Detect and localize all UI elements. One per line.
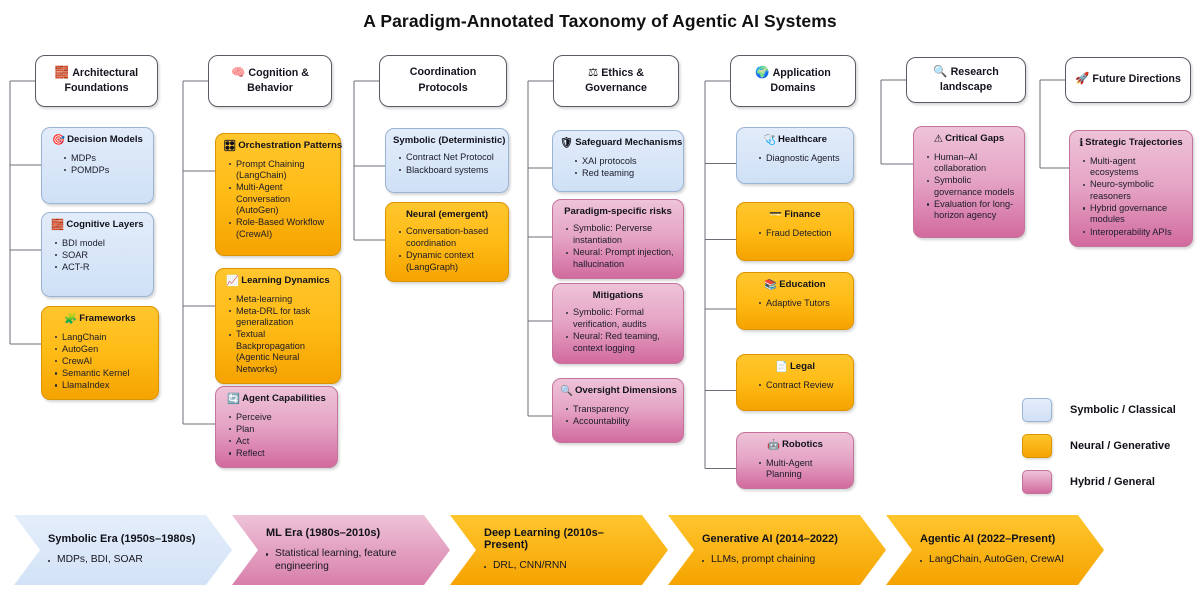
list-item: Fraud Detection [766, 228, 846, 240]
timeline-generative-ai[interactable]: Generative AI (2014–2022)LLMs, prompt ch… [668, 515, 886, 585]
node-item-list: PerceivePlanActReflect [223, 412, 330, 460]
node-title-text: Neural (emergent) [406, 209, 488, 220]
list-item: Neural: Prompt injection, hallucination [573, 247, 676, 270]
list-item: Symbolic governance models [934, 175, 1017, 198]
node-title-text: Mitigations [593, 290, 644, 301]
node-item-list: Contract Review [744, 380, 846, 392]
node-title-text: Learning Dynamics [241, 275, 330, 286]
node-mitigations[interactable]: MitigationsSymbolic: Formal verification… [552, 283, 684, 364]
card-icon: 💳 [769, 210, 782, 221]
node-title-text: Strategic Trajectories [1085, 137, 1183, 148]
legend-row-neural: Neural / Generative [1022, 428, 1176, 464]
node-title-text: Legal [790, 361, 815, 372]
node-title: 📄Legal [744, 361, 846, 375]
document-icon: 📄 [775, 362, 788, 373]
node-title: 🩺Healthcare [744, 134, 846, 148]
info-icon: ℹ [1079, 138, 1083, 149]
list-item: Neural: Red teaming, context logging [573, 331, 676, 354]
header-text: Research landscape [940, 66, 999, 93]
list-item: POMDPs [71, 165, 146, 177]
node-education[interactable]: 📚EducationAdaptive Tutors [736, 272, 854, 330]
node-title-text: Decision Models [67, 134, 143, 145]
node-title: Neural (emergent) [393, 209, 501, 221]
header-ethics-governance[interactable]: ⚖Ethics & Governance [553, 55, 679, 107]
timeline-subtitle: DRL, CNN/RNN [484, 560, 642, 573]
node-title: 🔄Agent Capabilities [223, 393, 330, 407]
node-symbolic-deterministic[interactable]: Symbolic (Deterministic)Contract Net Pro… [385, 128, 509, 193]
node-title-text: Oversight Dimensions [575, 385, 677, 396]
node-item-list: Meta-learningMeta-DRL for task generaliz… [223, 294, 333, 376]
list-item: Meta-DRL for task generalization [236, 306, 333, 329]
taxonomy-diagram: A Paradigm-Annotated Taxonomy of Agentic… [0, 0, 1200, 596]
node-title: ℹStrategic Trajectories [1077, 137, 1185, 151]
node-title: ⚠Critical Gaps [921, 133, 1017, 147]
node-robotics[interactable]: 🤖RoboticsMulti-Agent Planning [736, 432, 854, 489]
node-title: 🤖Robotics [744, 439, 846, 453]
list-item: Multi-Agent Planning [766, 458, 846, 481]
chart-increasing-icon: 📈 [226, 276, 239, 287]
node-decision-models[interactable]: 🎯Decision ModelsMDPsPOMDPs [41, 127, 154, 204]
magnifier-icon: 🔍 [560, 386, 573, 397]
list-item: SOAR [62, 250, 146, 262]
legend-label: Symbolic / Classical [1070, 404, 1176, 416]
list-item: Blackboard systems [406, 165, 501, 177]
list-item: Adaptive Tutors [766, 298, 846, 310]
list-item: Semantic Kernel [62, 368, 151, 380]
rocket-icon: 🚀 [1075, 73, 1089, 85]
header-cognition-behavior[interactable]: 🧠Cognition & Behavior [208, 55, 332, 107]
list-item: Contract Review [766, 380, 846, 392]
timeline-deep-learning[interactable]: Deep Learning (2010s–Present)DRL, CNN/RN… [450, 515, 668, 585]
list-item: Act [236, 436, 330, 448]
list-item: ACT-R [62, 262, 146, 274]
header-research-landscape[interactable]: 🔍Research landscape [906, 57, 1026, 103]
node-item-list: LangChainAutoGenCrewAISemantic KernelLla… [49, 332, 151, 392]
node-title: 🎯Decision Models [49, 134, 146, 148]
node-oversight-dimensions[interactable]: 🔍Oversight DimensionsTransparencyAccount… [552, 378, 684, 443]
header-architectural-foundations[interactable]: 🧱Architectural Foundations [35, 55, 158, 107]
list-item: Neuro-symbolic reasoners [1090, 179, 1185, 202]
header-label: ⚖Ethics & Governance [561, 65, 671, 97]
node-title: Symbolic (Deterministic) [393, 135, 501, 147]
globe-icon: 🌍 [755, 67, 769, 79]
header-label: 🚀Future Directions [1075, 71, 1181, 87]
header-text: Coordination Protocols [410, 66, 477, 93]
brick-icon: 🧱 [55, 67, 69, 79]
list-item: CrewAI [62, 356, 151, 368]
node-title-text: Safeguard Mechanisms [575, 137, 682, 148]
list-item: Evaluation for long-horizon agency [934, 199, 1017, 222]
era-timeline: Symbolic Era (1950s–1980s)MDPs, BDI, SOA… [0, 515, 1200, 585]
list-item: Multi-agent ecosystems [1090, 156, 1185, 179]
list-item: XAI protocols [582, 156, 676, 168]
warning-icon: ⚠ [934, 134, 943, 145]
legend-row-hybrid: Hybrid / General [1022, 464, 1176, 500]
node-title: Mitigations [560, 290, 676, 302]
node-finance[interactable]: 💳FinanceFraud Detection [736, 202, 854, 261]
list-item: Prompt Chaining (LangChain) [236, 159, 333, 182]
log-icon: 🧱 [51, 220, 64, 231]
list-item: Symbolic: Formal verification, audits [573, 307, 676, 330]
balance-scale-icon: ⚖ [588, 67, 598, 79]
node-item-list: Symbolic: Perverse instantiationNeural: … [560, 223, 676, 270]
node-strategic-trajectories[interactable]: ℹStrategic TrajectoriesMulti-agent ecosy… [1069, 130, 1193, 247]
list-item: MDPs [71, 153, 146, 165]
node-title-text: Healthcare [778, 134, 827, 145]
node-item-list: Contract Net ProtocolBlackboard systems [393, 152, 501, 176]
list-item: Perceive [236, 412, 330, 424]
node-item-list: Prompt Chaining (LangChain)Multi-Agent C… [223, 159, 333, 241]
node-title: 📚Education [744, 279, 846, 293]
list-item: AutoGen [62, 344, 151, 356]
node-item-list: Symbolic: Formal verification, auditsNeu… [560, 307, 676, 354]
list-item: Meta-learning [236, 294, 333, 306]
legend-swatch-hybrid [1022, 470, 1052, 494]
magnifier-icon: 🔍 [933, 66, 947, 78]
node-item-list: Conversation-based coordinationDynamic c… [393, 226, 501, 273]
legend-swatch-symbolic [1022, 398, 1052, 422]
list-item: Red teaming [582, 168, 676, 180]
node-title: 🔍Oversight Dimensions [560, 385, 676, 399]
timeline-title: Symbolic Era (1950s–1980s) [48, 533, 206, 545]
legend-swatch-neural [1022, 434, 1052, 458]
brain-icon: 🧠 [231, 67, 245, 79]
legend: Symbolic / ClassicalNeural / GenerativeH… [1022, 392, 1176, 500]
legend-row-symbolic: Symbolic / Classical [1022, 392, 1176, 428]
list-item: Interoperability APIs [1090, 227, 1185, 239]
header-label: Coordination Protocols [387, 65, 499, 95]
header-label: 🔍Research landscape [914, 64, 1018, 96]
puzzle-icon: 🧩 [64, 314, 77, 325]
list-item: Symbolic: Perverse instantiation [573, 223, 676, 246]
node-healthcare[interactable]: 🩺HealthcareDiagnostic Agents [736, 127, 854, 184]
legend-label: Neural / Generative [1070, 440, 1170, 452]
node-critical-gaps[interactable]: ⚠Critical GapsHuman–AI collaborationSymb… [913, 126, 1025, 238]
target-icon: 🎯 [52, 135, 65, 146]
header-label: 🌍Application Domains [738, 65, 848, 97]
node-orchestration-patterns[interactable]: 🎛Orchestration PatternsPrompt Chaining (… [215, 133, 341, 256]
node-item-list: BDI modelSOARACT-R [49, 238, 146, 274]
header-text: Cognition & Behavior [247, 67, 309, 94]
node-safeguard-mechanisms[interactable]: 🛡Safeguard MechanismsXAI protocolsRed te… [552, 130, 684, 192]
node-item-list: TransparencyAccountability [560, 404, 676, 428]
node-agent-capabilities[interactable]: 🔄Agent CapabilitiesPerceivePlanActReflec… [215, 386, 338, 468]
list-item: BDI model [62, 238, 146, 250]
list-item: Accountability [573, 416, 676, 428]
node-paradigm-specific-risks[interactable]: Paradigm-specific risksSymbolic: Pervers… [552, 199, 684, 279]
node-title: 🧱Cognitive Layers [49, 219, 146, 233]
list-item: LlamaIndex [62, 380, 151, 392]
node-title: 📈Learning Dynamics [223, 275, 333, 289]
node-title-text: Agent Capabilities [242, 393, 326, 404]
timeline-subtitle: LLMs, prompt chaining [702, 554, 860, 567]
stethoscope-icon: 🩺 [763, 135, 776, 146]
timeline-agentic-ai[interactable]: Agentic AI (2022–Present)LangChain, Auto… [886, 515, 1104, 585]
control-knobs-icon: 🎛 [223, 141, 236, 152]
node-title: 🎛Orchestration Patterns [223, 140, 333, 154]
node-item-list: Fraud Detection [744, 228, 846, 240]
list-item: Human–AI collaboration [934, 152, 1017, 175]
timeline-title: Agentic AI (2022–Present) [920, 533, 1078, 545]
node-title-text: Paradigm-specific risks [564, 206, 672, 217]
list-item: Dynamic context (LangGraph) [406, 250, 501, 273]
header-coordination-protocols[interactable]: Coordination Protocols [379, 55, 507, 107]
list-item: Contract Net Protocol [406, 152, 501, 164]
node-item-list: Multi-Agent Planning [744, 458, 846, 481]
node-title: 🛡Safeguard Mechanisms [560, 137, 676, 151]
header-text: Architectural Foundations [64, 67, 138, 94]
node-item-list: Human–AI collaborationSymbolic governanc… [921, 152, 1017, 223]
list-item: Multi-Agent Conversation (AutoGen) [236, 182, 333, 217]
node-title-text: Education [779, 279, 825, 290]
node-title-text: Robotics [782, 439, 823, 450]
list-item: Hybrid governance modules [1090, 203, 1185, 226]
header-label: 🧱Architectural Foundations [43, 65, 150, 97]
header-future-directions[interactable]: 🚀Future Directions [1065, 57, 1191, 103]
node-learning-dynamics[interactable]: 📈Learning DynamicsMeta-learningMeta-DRL … [215, 268, 341, 384]
node-title-text: Cognitive Layers [66, 219, 143, 230]
list-item: Conversation-based coordination [406, 226, 501, 249]
timeline-title: ML Era (1980s–2010s) [266, 527, 424, 539]
list-item: Diagnostic Agents [766, 153, 846, 165]
node-cognitive-layers[interactable]: 🧱Cognitive LayersBDI modelSOARACT-R [41, 212, 154, 297]
timeline-subtitle: Statistical learning, feature engineerin… [266, 548, 424, 574]
list-item: Transparency [573, 404, 676, 416]
node-title-text: Symbolic (Deterministic) [393, 135, 506, 146]
node-title: 💳Finance [744, 209, 846, 223]
node-title-text: Critical Gaps [945, 133, 1004, 144]
shield-icon: 🛡 [560, 138, 573, 149]
robot-icon: 🤖 [767, 440, 780, 451]
timeline-symbolic-era[interactable]: Symbolic Era (1950s–1980s)MDPs, BDI, SOA… [14, 515, 232, 585]
header-text: Application Domains [770, 67, 830, 94]
node-title-text: Finance [784, 209, 820, 220]
header-text: Future Directions [1092, 73, 1180, 85]
node-legal[interactable]: 📄LegalContract Review [736, 354, 854, 411]
node-title-text: Frameworks [79, 313, 136, 324]
header-label: 🧠Cognition & Behavior [216, 65, 324, 97]
node-frameworks[interactable]: 🧩FrameworksLangChainAutoGenCrewAISemanti… [41, 306, 159, 400]
node-neural-emergent[interactable]: Neural (emergent)Conversation-based coor… [385, 202, 509, 282]
timeline-subtitle: MDPs, BDI, SOAR [48, 554, 206, 567]
list-item: Reflect [236, 448, 330, 460]
page-title: A Paradigm-Annotated Taxonomy of Agentic… [0, 11, 1200, 32]
list-item: Textual Backpropagation (Agentic Neural … [236, 329, 333, 375]
node-item-list: XAI protocolsRed teaming [560, 156, 676, 180]
node-item-list: Diagnostic Agents [744, 153, 846, 165]
timeline-subtitle: LangChain, AutoGen, CrewAI [920, 554, 1078, 567]
node-title: 🧩Frameworks [49, 313, 151, 327]
node-item-list: Multi-agent ecosystemsNeuro-symbolic rea… [1077, 156, 1185, 239]
refresh-icon: 🔄 [227, 394, 240, 405]
header-application-domains[interactable]: 🌍Application Domains [730, 55, 856, 107]
timeline-ml-era[interactable]: ML Era (1980s–2010s)Statistical learning… [232, 515, 450, 585]
legend-label: Hybrid / General [1070, 476, 1155, 488]
list-item: LangChain [62, 332, 151, 344]
list-item: Plan [236, 424, 330, 436]
node-title-text: Orchestration Patterns [238, 140, 342, 151]
node-item-list: Adaptive Tutors [744, 298, 846, 310]
books-icon: 📚 [764, 280, 777, 291]
node-item-list: MDPsPOMDPs [49, 153, 146, 177]
node-title: Paradigm-specific risks [560, 206, 676, 218]
timeline-title: Generative AI (2014–2022) [702, 533, 860, 545]
timeline-title: Deep Learning (2010s–Present) [484, 527, 642, 551]
list-item: Role-Based Workflow (CrewAI) [236, 217, 333, 240]
